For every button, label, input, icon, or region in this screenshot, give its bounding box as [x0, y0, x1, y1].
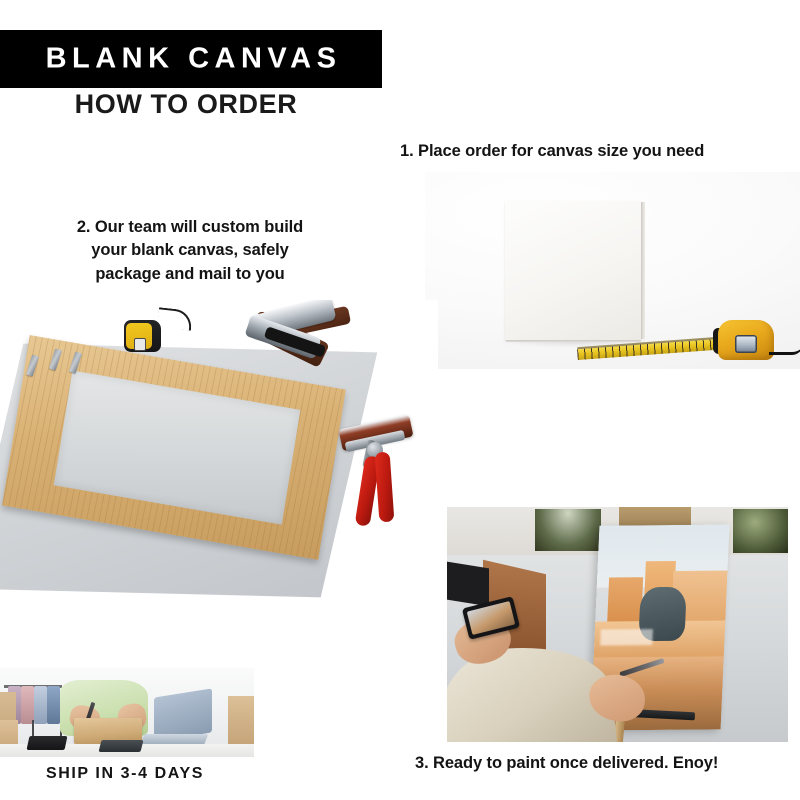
dark-cloth: [447, 562, 489, 607]
step-3-photo-painting: [447, 507, 788, 742]
tape-measure-cord: [157, 307, 193, 330]
cardboard-box-right: [228, 696, 254, 750]
wall-decor-right: [733, 509, 788, 553]
painting-building-1: [607, 577, 643, 625]
step-2-photo-stretcher-frame: [0, 300, 438, 618]
step-2-line-1: 2. Our team will custom build: [35, 216, 345, 239]
hanging-garment-4: [47, 686, 60, 724]
title-banner: BLANK CANVAS: [0, 30, 382, 88]
blank-canvas-square: [505, 201, 641, 340]
tablet-device: [99, 740, 144, 752]
shipping-photo-packing: [0, 668, 254, 757]
hanging-garment-3: [34, 686, 47, 724]
page-subtitle: HOW TO ORDER: [0, 90, 372, 120]
step-1-photo-blank-canvas: [425, 172, 800, 369]
infographic-page: BLANK CANVAS HOW TO ORDER 1. Place order…: [0, 0, 800, 800]
step-1-caption: 1. Place order for canvas size you need: [400, 140, 785, 163]
page-title: BLANK CANVAS: [0, 45, 382, 74]
tape-measure-body: [718, 320, 774, 360]
canvas-pliers-handle-2: [375, 452, 395, 523]
wall-decor-left: [535, 509, 601, 551]
tape-measure-window: [134, 338, 146, 351]
step-2-line-2: your blank canvas, safely: [35, 239, 345, 262]
step-3-caption: 3. Ready to paint once delivered. Enoy!: [415, 752, 787, 775]
painting-white-smear: [600, 629, 653, 645]
step-2-caption: 2. Our team will custom build your blank…: [35, 216, 345, 286]
step-2-line-3: package and mail to you: [35, 263, 345, 286]
tape-measure-strap: [769, 344, 800, 355]
hanging-garment-2: [21, 686, 34, 724]
calculator: [27, 736, 68, 750]
shipping-caption: SHIP IN 3-4 DAYS: [0, 765, 250, 783]
